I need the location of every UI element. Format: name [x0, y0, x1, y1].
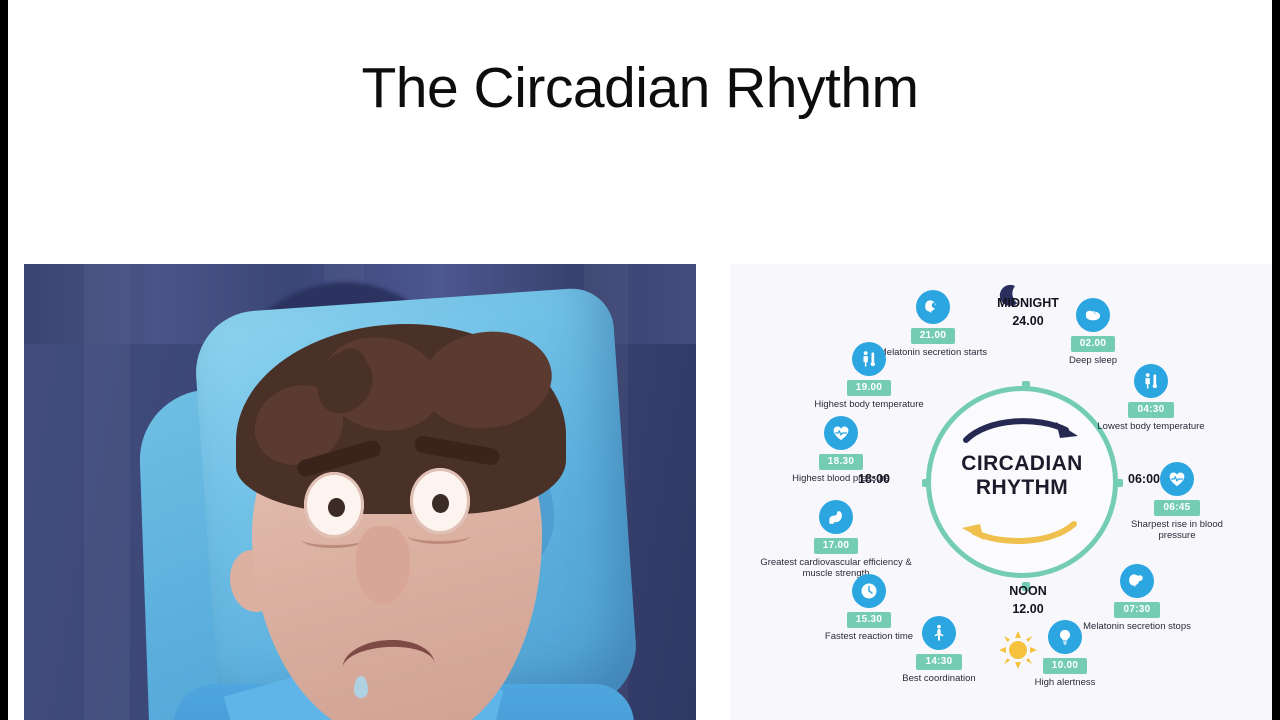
sleepless-man-illustration: 03:36 — [24, 264, 696, 720]
person-balance-icon — [922, 616, 956, 650]
node-caption: Lowest body temperature — [1092, 421, 1210, 433]
node-caption: High alertness — [1006, 677, 1124, 689]
counter-clockwise-arrow-icon — [958, 518, 1078, 548]
circadian-rhythm-infographic: CIRCADIAN RHYTHM MIDNIGHT 24.00 NOON 12.… — [730, 264, 1272, 720]
lightbulb-icon — [1048, 620, 1082, 654]
flexed-arm-icon — [819, 500, 853, 534]
svg-text:z: z — [1097, 308, 1099, 312]
node-06-45: 06:45 Sharpest rise in blood pressure — [1118, 462, 1236, 542]
node-caption: Highest blood pressure — [782, 473, 900, 485]
node-time-badge: 02.00 — [1071, 336, 1116, 352]
ring-tick-midnight — [1022, 381, 1030, 390]
pupil-left — [328, 498, 345, 517]
node-caption: Best coordination — [880, 673, 998, 685]
node-02-00: z z 02.00 Deep sleep — [1034, 298, 1152, 366]
heart-pulse-icon — [1160, 462, 1194, 496]
slide-frame: The Circadian Rhythm — [0, 0, 1280, 720]
center-line-2: RHYTHM — [926, 476, 1118, 500]
nose — [356, 526, 410, 604]
ring-center-label: CIRCADIAN RHYTHM — [926, 452, 1118, 499]
node-time-badge: 18.30 — [819, 454, 864, 470]
node-10-00: 10.00 High alertness — [1006, 620, 1124, 688]
node-time-badge: 17.00 — [814, 538, 859, 554]
eyebag-right — [408, 528, 470, 544]
node-time-badge: 04:30 — [1128, 402, 1173, 418]
node-19-00: 19.00 Highest body temperature — [810, 342, 928, 410]
node-caption: Sharpest rise in blood pressure — [1118, 519, 1236, 543]
node-time-badge: 06:45 — [1154, 500, 1199, 516]
sleep-cloud-icon: z z — [1076, 298, 1110, 332]
brain-moon-icon — [916, 290, 950, 324]
anchor-noon-label: NOON — [978, 582, 1078, 600]
clockwise-arrow-icon — [962, 416, 1082, 446]
thermometer-body-icon — [1134, 364, 1168, 398]
node-18-30: 18.30 Highest blood pressure — [782, 416, 900, 484]
node-04-30: 04:30 Lowest body temperature — [1092, 364, 1210, 432]
wall-stripe — [84, 264, 130, 720]
node-time-badge: 07:30 — [1114, 602, 1159, 618]
node-caption: Highest body temperature — [810, 399, 928, 411]
eyebag-left — [302, 532, 364, 548]
slide-canvas: The Circadian Rhythm — [8, 0, 1272, 720]
anchor-noon: NOON 12.00 — [978, 582, 1078, 618]
node-time-badge: 14:30 — [916, 654, 961, 670]
thermometer-body-icon — [852, 342, 886, 376]
node-time-badge: 10.00 — [1043, 658, 1088, 674]
center-line-1: CIRCADIAN — [926, 452, 1118, 476]
node-17-00: 17.00 Greatest cardiovascular efficiency… — [752, 500, 920, 580]
tear-drop — [354, 676, 368, 698]
page-title: The Circadian Rhythm — [8, 55, 1272, 121]
node-time-badge: 19.00 — [847, 380, 892, 396]
node-14-30: 14:30 Best coordination — [880, 616, 998, 684]
pupil-right — [432, 494, 449, 513]
heart-pulse-icon — [824, 416, 858, 450]
clock-icon — [852, 574, 886, 608]
brain-icon — [1120, 564, 1154, 598]
